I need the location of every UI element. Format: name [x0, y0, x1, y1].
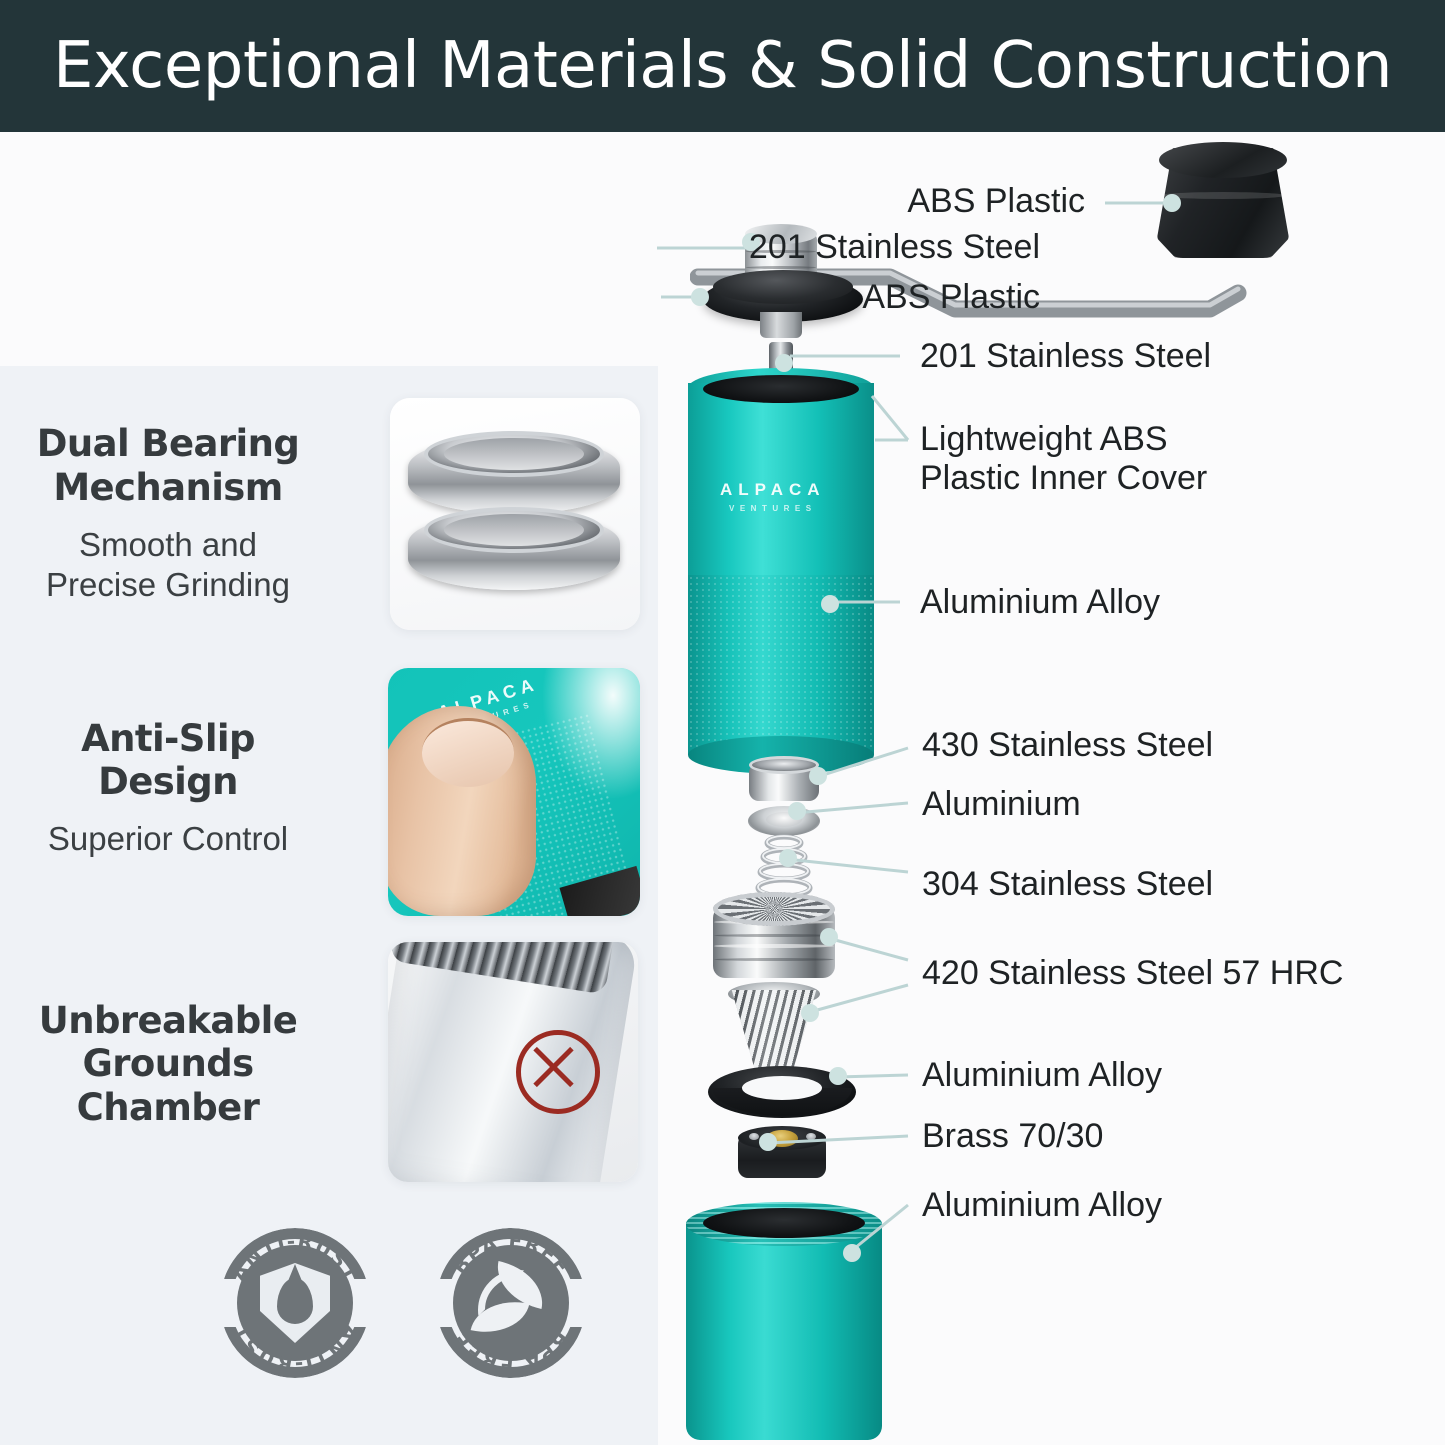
- brand-name: ALPACA: [720, 480, 826, 499]
- callout-abs-plastic-knob: ABS Plastic: [700, 182, 1085, 221]
- part-430-bearing-top: [749, 756, 819, 774]
- callout-201-stainless-steel-shaft: 201 Stainless Steel: [920, 337, 1211, 376]
- part-crank-knob-top: [1159, 142, 1287, 178]
- part-washer-bore: [766, 812, 802, 827]
- callout-inner-cover: Lightweight ABS Plastic Inner Cover: [920, 420, 1300, 498]
- callout-jar-aluminium-alloy: Aluminium Alloy: [922, 1186, 1162, 1225]
- callout-304-stainless-steel: 304 Stainless Steel: [922, 865, 1213, 904]
- callout-brass-70-30: Brass 70/30: [922, 1117, 1103, 1156]
- callout-line: Plastic Inner Cover: [920, 459, 1300, 498]
- part-brass-insert: [766, 1130, 798, 1147]
- part-crank-knob-band: [1161, 192, 1285, 199]
- part-screw: [806, 1133, 816, 1140]
- part-ring-burr-groove: [714, 934, 834, 937]
- callout-aluminium-washer: Aluminium: [922, 785, 1081, 824]
- infographic-root: Exceptional Materials & Solid Constructi…: [0, 0, 1445, 1445]
- part-grounds-jar: [686, 1222, 882, 1440]
- callout-burr-holder-aluminium-alloy: Aluminium Alloy: [922, 1056, 1162, 1095]
- part-ring-burr-groove: [714, 944, 834, 948]
- part-burr-holder-bore: [742, 1076, 822, 1100]
- callout-line: Lightweight ABS: [920, 420, 1300, 459]
- callout-body-aluminium-alloy: Aluminium Alloy: [920, 583, 1160, 622]
- part-body-bore: [703, 375, 859, 403]
- part-cone-burr: [728, 990, 820, 1072]
- body-brand-logo: ALPACA VENTURES: [720, 480, 826, 513]
- part-grounds-jar-bore: [703, 1208, 865, 1238]
- brand-tagline: VENTURES: [720, 504, 826, 513]
- part-ring-burr-groove: [714, 958, 834, 961]
- part-body-knurled: [688, 575, 874, 755]
- callout-430-stainless-steel: 430 Stainless Steel: [922, 726, 1213, 765]
- part-ring-burr-teeth: [713, 892, 835, 926]
- part-screw: [749, 1133, 759, 1140]
- callout-201-stainless-steel-top: 201 Stainless Steel: [600, 228, 1040, 267]
- callout-420-stainless-steel-57-hrc: 420 Stainless Steel 57 HRC: [922, 954, 1343, 993]
- callout-abs-plastic-cap: ABS Plastic: [600, 278, 1040, 317]
